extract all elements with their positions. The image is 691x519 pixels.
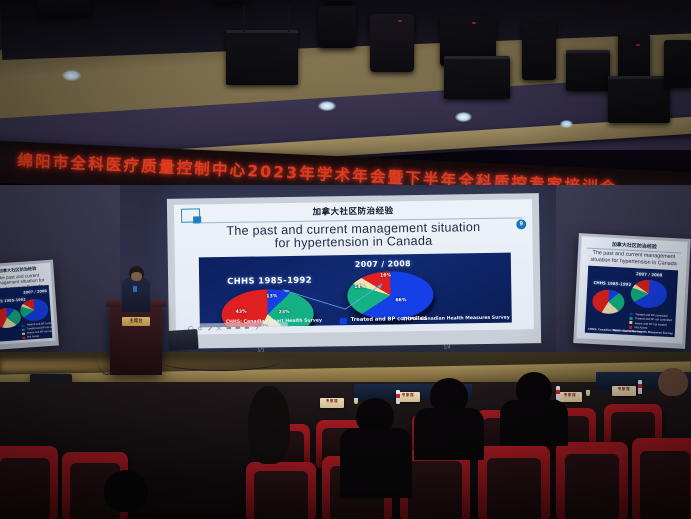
stage-light <box>608 76 670 123</box>
more-icon[interactable] <box>244 325 250 331</box>
presenter-body <box>122 278 150 312</box>
name-card-text-0: 专家席 <box>320 398 344 405</box>
water-bottle <box>638 380 642 394</box>
presenter-lanyard <box>133 286 137 292</box>
screen-surface: 加拿大社区防治经验 9 The past and current managem… <box>174 199 534 335</box>
water-bottle <box>396 390 400 404</box>
stage-light <box>522 24 556 80</box>
seat-cushion <box>487 458 542 519</box>
audience-person <box>104 470 148 512</box>
downlight <box>560 120 573 128</box>
next-icon[interactable] <box>254 324 260 330</box>
legend-label-1: Treated and BP not controlled <box>351 323 439 327</box>
side-left-pie-chms <box>20 298 49 322</box>
page-number-1: 1/4 <box>443 344 450 350</box>
side-left-chart-area: CHHS 1985-1992 2007 / 2008 Treated and B… <box>0 285 52 342</box>
audience-person <box>414 408 484 460</box>
light-yoke <box>243 6 245 32</box>
stage-light <box>566 50 610 91</box>
name-card: 专家席 <box>558 392 582 402</box>
podium-plaque-text: 主席台 <box>122 317 150 326</box>
side-right-footnote-right: CHMS: Canadian Health Measures Survey <box>612 329 673 335</box>
side-right-chhs-label: CHHS 1985-1992 <box>593 280 631 287</box>
legend-swatch-blue <box>340 318 347 324</box>
presenter-face <box>131 272 142 281</box>
name-card: 专家席 <box>612 386 636 396</box>
expand-icon[interactable] <box>216 325 222 331</box>
side-left-legend-3: Not Aware <box>27 335 39 339</box>
side-right-legend: Treated and BP controlled Treated and BP… <box>629 312 630 330</box>
side-left-chms-label: 2007 / 2008 <box>23 289 47 295</box>
side-screen-left: 加拿大社区防治经验 The past and current managemen… <box>0 260 59 351</box>
seat-cushion <box>254 471 307 519</box>
seat-cushion <box>640 451 690 519</box>
side-right-pie-chhs <box>592 289 625 315</box>
side-right-chart-area: CHHS 1985-1992 2007 / 2008 Treated and B… <box>585 266 678 338</box>
light-indicator <box>636 44 640 46</box>
legend-swatch-green <box>340 326 347 328</box>
seat <box>246 462 316 519</box>
light-indicator <box>398 20 402 22</box>
seat-cushion <box>408 461 461 519</box>
stage-monitor <box>167 329 198 351</box>
conference-hall-photo: 绵阳市全科医疗质量控制中心2023年学术年会暨下半年全科质控专家培训会 加拿大社… <box>0 0 691 519</box>
seat <box>632 438 691 519</box>
notes-icon[interactable] <box>235 325 241 331</box>
seat-cushion <box>0 458 50 519</box>
side-screen-right: 加拿大社区防治经验 The past and current managemen… <box>573 233 691 349</box>
light-indicator <box>472 22 476 24</box>
name-card-text-2: 专家席 <box>558 392 582 399</box>
stage-light <box>324 0 351 5</box>
side-right-chms-label: 2007 / 2008 <box>636 271 663 277</box>
stage-light <box>664 40 691 88</box>
name-card-text-3: 专家席 <box>612 386 636 393</box>
stage-light <box>226 30 298 85</box>
side-screen-left-surface: 加拿大社区防治经验 The past and current managemen… <box>0 263 56 345</box>
audience-person <box>500 400 568 446</box>
side-right-pie-chms <box>630 279 667 309</box>
main-projection-screen: 加拿大社区防治经验 9 The past and current managem… <box>167 193 541 349</box>
stage-light <box>318 6 356 48</box>
stage-light <box>38 0 91 18</box>
slide-icon[interactable] <box>225 325 231 331</box>
podium-plaque: 主席台 <box>122 317 150 326</box>
water-bottle <box>556 386 560 400</box>
audience-person <box>658 368 688 396</box>
highlighter-icon[interactable] <box>207 325 213 331</box>
stage-cable <box>160 352 280 371</box>
side-left-legend: Treated and BP controlled Treated and BP… <box>21 324 22 340</box>
audience-person <box>340 428 412 498</box>
presentation-toolbar[interactable] <box>184 322 288 334</box>
seat <box>556 442 628 519</box>
stage-cable <box>96 330 118 375</box>
gear-icon[interactable] <box>197 325 203 331</box>
stage-light <box>370 14 414 72</box>
side-left-legend-2: Aware and BP not treated <box>27 330 52 335</box>
slide-title: The past and current management situatio… <box>188 220 518 252</box>
paper-cup <box>354 398 358 404</box>
downlight <box>62 70 81 81</box>
paper-cup <box>586 390 590 396</box>
stage-light <box>444 56 510 99</box>
light-yoke <box>288 6 290 32</box>
seat-cushion <box>565 454 620 519</box>
side-screen-right-surface: 加拿大社区防治经验 The past and current managemen… <box>576 236 687 343</box>
seat <box>0 446 58 519</box>
slide-chart-panel: CHHS 1985-1992 13% 23% 22% 43% 2007 / 20… <box>199 253 512 328</box>
name-card: 专家席 <box>320 398 344 408</box>
downlight <box>455 112 472 122</box>
side-left-pie-chhs <box>0 307 22 329</box>
downlight <box>318 101 336 111</box>
podium: 主席台 <box>110 305 162 375</box>
seat <box>478 446 550 519</box>
audience-person <box>248 386 290 464</box>
stage-light <box>212 0 247 3</box>
